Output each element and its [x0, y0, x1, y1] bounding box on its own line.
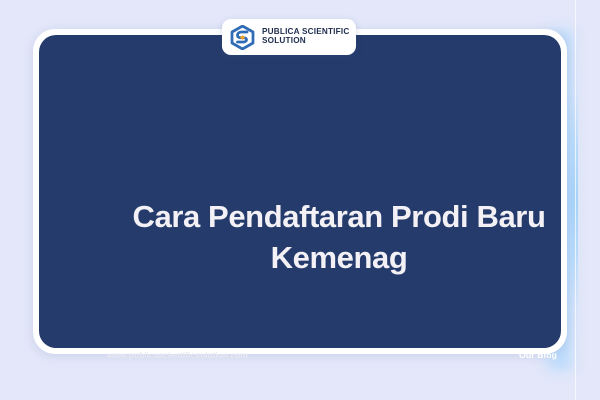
footer-website-url: www.publicascientificsolution.com [107, 350, 248, 360]
brand-logo-badge[interactable]: PUBLICA SCIENTIFIC SOLUTION [222, 19, 356, 55]
brand-name-line-2: SOLUTION [262, 37, 349, 46]
footer-our-blog-link[interactable]: Our Blog [519, 350, 557, 360]
brand-name: PUBLICA SCIENTIFIC SOLUTION [262, 28, 349, 46]
slide-canvas: Cara Pendaftaran Prodi Baru Kemenag www.… [0, 0, 600, 400]
page-title: Cara Pendaftaran Prodi Baru Kemenag [99, 196, 579, 278]
content-card: Cara Pendaftaran Prodi Baru Kemenag www.… [39, 35, 561, 348]
hexagon-s-logo-icon [230, 25, 255, 50]
card-footer: www.publicascientificsolution.com Our Bl… [107, 350, 557, 360]
